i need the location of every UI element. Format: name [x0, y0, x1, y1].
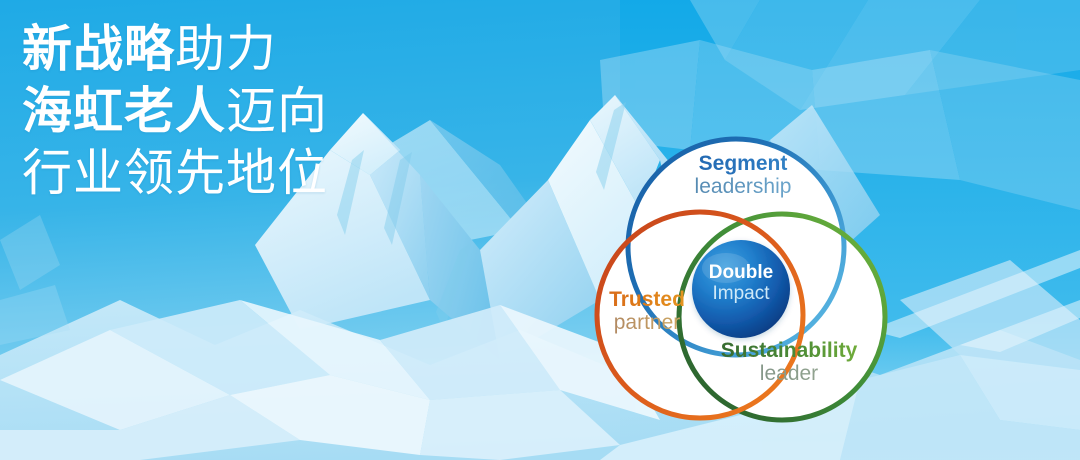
double-impact-sphere[interactable] [692, 240, 790, 338]
venn-diagram [0, 0, 1080, 460]
sphere-highlight [702, 253, 750, 283]
banner-image: 新战略助力 海虹老人迈向 行业领先地位 [0, 0, 1080, 460]
